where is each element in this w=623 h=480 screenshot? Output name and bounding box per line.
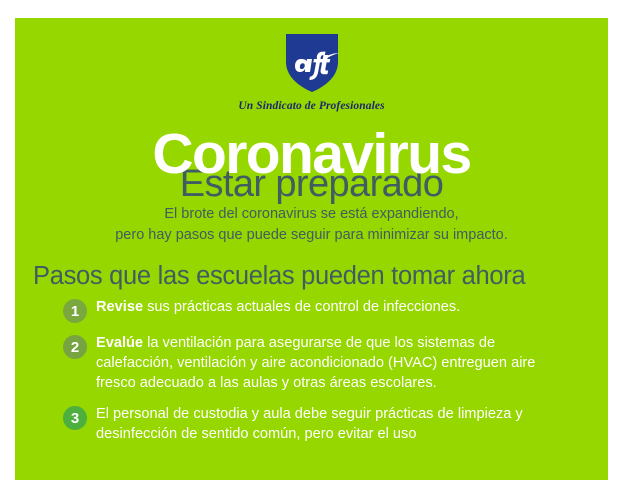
- step-text: Revise sus prácticas actuales de control…: [96, 298, 460, 318]
- step-lead: Evalúe: [96, 335, 143, 351]
- step-number-badge: 1: [63, 299, 87, 323]
- section-heading: Pasos que las escuelas pueden tomar ahor…: [33, 262, 608, 290]
- logo-block: Un Sindicato de Profesionales: [15, 18, 608, 112]
- deck-text: El brote del coronavirus se está expandi…: [15, 204, 608, 245]
- step-number-badge: 2: [63, 335, 87, 359]
- list-item: 2 Evalúe la ventilación para asegurarse …: [15, 334, 608, 394]
- poster-canvas: Un Sindicato de Profesionales Coronaviru…: [15, 18, 608, 480]
- deck-line-2: pero hay pasos que puede seguir para min…: [15, 225, 608, 246]
- step-text: El personal de custodia y aula debe segu…: [96, 405, 548, 445]
- step-lead: Revise: [96, 299, 143, 315]
- page-title: Coronavirus: [15, 126, 608, 183]
- list-item: 3 El personal de custodia y aula debe se…: [15, 405, 608, 445]
- list-item: 1 Revise sus prácticas actuales de contr…: [15, 298, 608, 323]
- steps-list: 1 Revise sus prácticas actuales de contr…: [15, 298, 608, 445]
- step-number-badge: 3: [63, 406, 87, 430]
- logo-tagline: Un Sindicato de Profesionales: [238, 100, 384, 112]
- step-body: la ventilación para asegurarse de que lo…: [96, 335, 535, 391]
- aft-shield-logo: [284, 32, 340, 94]
- title-block: Coronavirus Estar preparado: [15, 126, 608, 202]
- step-text: Evalúe la ventilación para asegurarse de…: [96, 334, 548, 394]
- deck-line-1: El brote del coronavirus se está expandi…: [15, 204, 608, 225]
- step-body: El personal de custodia y aula debe segu…: [96, 406, 523, 442]
- step-body: sus prácticas actuales de control de inf…: [143, 299, 460, 315]
